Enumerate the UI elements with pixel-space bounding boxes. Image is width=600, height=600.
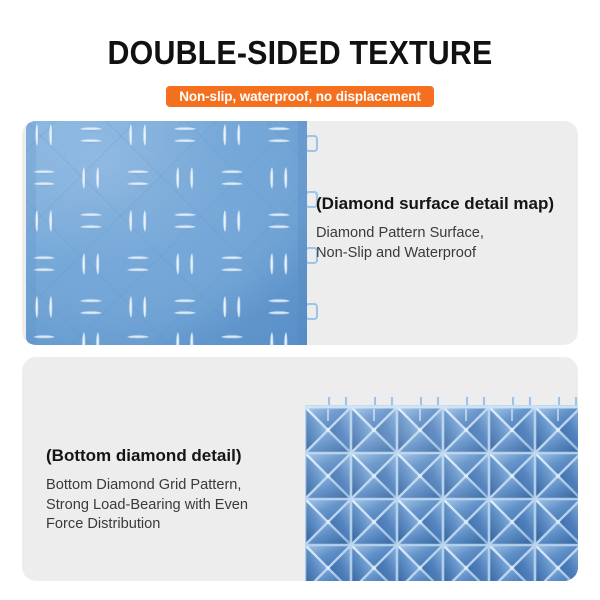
caption-diamond-surface: (Diamond surface detail map) Diamond Pat… bbox=[316, 193, 568, 263]
header: DOUBLE-SIDED TEXTURE Non-slip, waterproo… bbox=[0, 0, 600, 118]
card-bottom-diamond: (Bottom diamond detail) Bottom Diamond G… bbox=[22, 357, 578, 581]
caption-body: Diamond Pattern Surface, Non-Slip and Wa… bbox=[316, 224, 568, 263]
caption-title: (Diamond surface detail map) bbox=[316, 193, 568, 215]
card-diamond-surface: (Diamond surface detail map) Diamond Pat… bbox=[22, 121, 578, 345]
caption-body: Bottom Diamond Grid Pattern, Strong Load… bbox=[46, 476, 306, 535]
badge-container: Non-slip, waterproof, no displacement bbox=[0, 86, 600, 107]
page-title: DOUBLE-SIDED TEXTURE bbox=[24, 34, 576, 72]
diamond-plate-tile-image bbox=[26, 121, 318, 345]
feature-badge: Non-slip, waterproof, no displacement bbox=[166, 86, 434, 107]
product-feature-page: DOUBLE-SIDED TEXTURE Non-slip, waterproo… bbox=[0, 0, 600, 600]
diamond-grid-tile-image bbox=[305, 397, 578, 581]
caption-bottom-diamond: (Bottom diamond detail) Bottom Diamond G… bbox=[46, 445, 306, 535]
caption-title: (Bottom diamond detail) bbox=[46, 445, 306, 467]
